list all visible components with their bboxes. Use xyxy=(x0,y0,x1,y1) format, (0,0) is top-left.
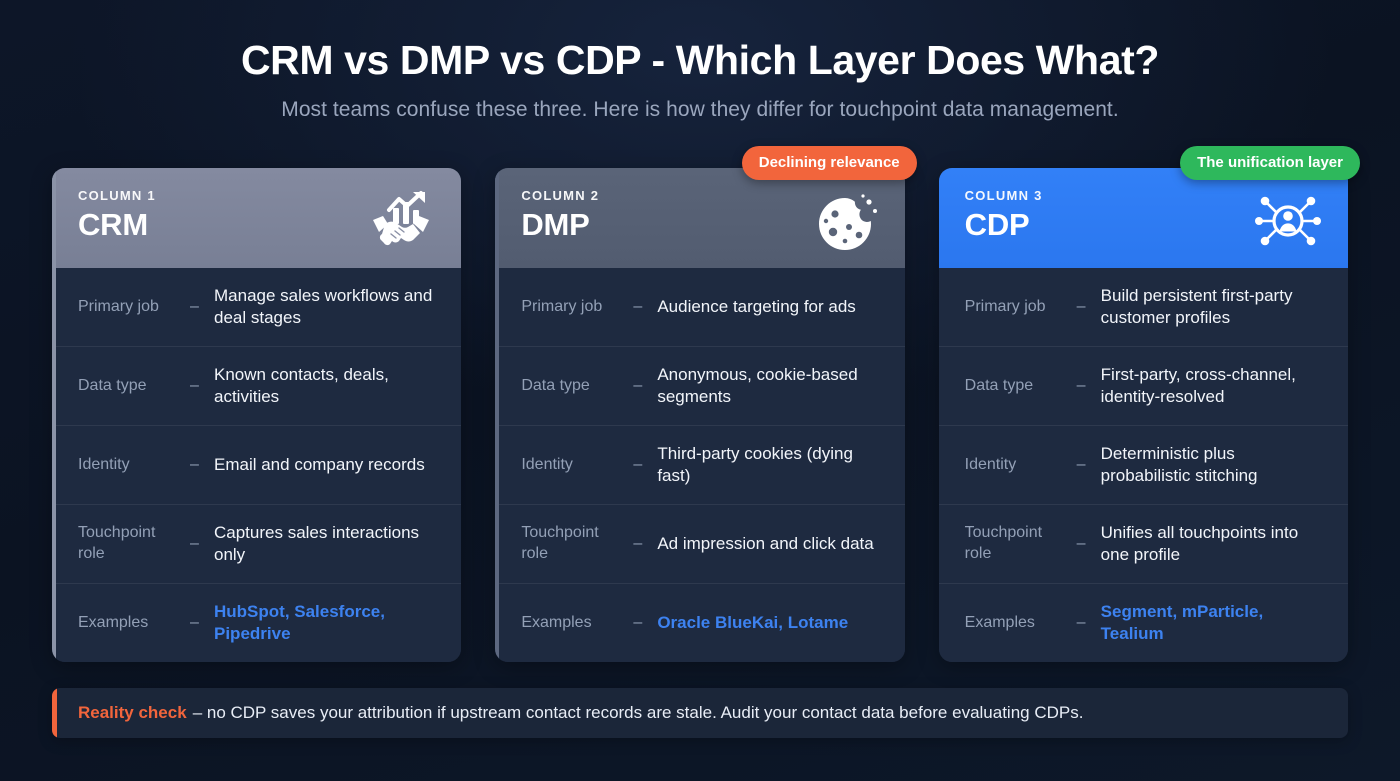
column-card-crm: COLUMN 1 CRM xyxy=(52,168,461,662)
row-label: Data type xyxy=(965,376,1077,397)
row-dash: – xyxy=(1077,614,1101,632)
row-label: Touchpoint role xyxy=(521,523,633,565)
status-badge-declining: Declining relevance xyxy=(742,146,917,180)
row-label: Data type xyxy=(78,376,190,397)
row-value: Deterministic plus probabilistic stitchi… xyxy=(1101,443,1326,488)
row-dash: – xyxy=(190,535,214,553)
row-label: Touchpoint role xyxy=(78,523,190,565)
user-network-icon xyxy=(1252,190,1324,252)
card-rows-crm: Primary job – Manage sales workflows and… xyxy=(52,268,461,662)
column-kicker: COLUMN 1 xyxy=(78,188,156,203)
column-card-cdp: The unification layer COLUMN 3 CDP xyxy=(939,168,1348,662)
column-kicker: COLUMN 2 xyxy=(521,188,599,203)
reality-check-banner: Reality check – no CDP saves your attrib… xyxy=(52,688,1348,738)
row-label: Examples xyxy=(521,613,633,634)
table-row: Touchpoint role – Unifies all touchpoint… xyxy=(939,504,1348,583)
row-label: Primary job xyxy=(965,297,1077,318)
row-value: Unifies all touchpoints into one profile xyxy=(1101,522,1326,567)
infographic-page: CRM vs DMP vs CDP - Which Layer Does Wha… xyxy=(0,0,1400,781)
handshake-growth-icon xyxy=(365,190,437,252)
row-dash: – xyxy=(633,535,657,553)
card-header-cdp: COLUMN 3 CDP xyxy=(939,168,1348,268)
row-value-examples: Oracle BlueKai, Lotame xyxy=(657,612,882,634)
row-dash: – xyxy=(633,298,657,316)
row-dash: – xyxy=(1077,535,1101,553)
column-name: CDP xyxy=(965,209,1043,242)
table-row: Examples – Segment, mParticle, Tealium xyxy=(939,583,1348,662)
row-dash: – xyxy=(633,614,657,632)
row-value: Ad impression and click data xyxy=(657,533,882,555)
row-value: Anonymous, cookie-based segments xyxy=(657,364,882,409)
row-value-examples: Segment, mParticle, Tealium xyxy=(1101,601,1326,646)
table-row: Data type – Anonymous, cookie-based segm… xyxy=(495,346,904,425)
table-row: Primary job – Manage sales workflows and… xyxy=(52,268,461,346)
column-card-dmp: Declining relevance COLUMN 2 DMP xyxy=(495,168,904,662)
row-dash: – xyxy=(190,456,214,474)
row-label: Touchpoint role xyxy=(965,523,1077,565)
table-row: Primary job – Build persistent first-par… xyxy=(939,268,1348,346)
row-label: Identity xyxy=(521,455,633,476)
reality-check-text: – no CDP saves your attribution if upstr… xyxy=(193,703,1084,723)
row-value: Captures sales interactions only xyxy=(214,522,439,567)
row-value-examples: HubSpot, Salesforce, Pipedrive xyxy=(214,601,439,646)
row-dash: – xyxy=(1077,456,1101,474)
column-kicker: COLUMN 3 xyxy=(965,188,1043,203)
reality-check-label: Reality check xyxy=(78,703,187,723)
row-label: Primary job xyxy=(521,297,633,318)
row-label: Data type xyxy=(521,376,633,397)
row-value: Third-party cookies (dying fast) xyxy=(657,443,882,488)
card-header-crm: COLUMN 1 CRM xyxy=(52,168,461,268)
table-row: Data type – First-party, cross-channel, … xyxy=(939,346,1348,425)
row-value: Audience targeting for ads xyxy=(657,296,882,318)
table-row: Touchpoint role – Ad impression and clic… xyxy=(495,504,904,583)
table-row: Examples – Oracle BlueKai, Lotame xyxy=(495,583,904,662)
card-rows-dmp: Primary job – Audience targeting for ads… xyxy=(495,268,904,662)
table-row: Examples – HubSpot, Salesforce, Pipedriv… xyxy=(52,583,461,662)
table-row: Identity – Email and company records xyxy=(52,425,461,504)
row-value: Manage sales workflows and deal stages xyxy=(214,285,439,330)
comparison-columns: COLUMN 1 CRM xyxy=(52,168,1348,662)
row-value: Known contacts, deals, activities xyxy=(214,364,439,409)
page-title: CRM vs DMP vs CDP - Which Layer Does Wha… xyxy=(0,38,1400,84)
page-subtitle: Most teams confuse these three. Here is … xyxy=(0,98,1400,122)
cookie-icon xyxy=(809,190,881,252)
row-value: First-party, cross-channel, identity-res… xyxy=(1101,364,1326,409)
row-dash: – xyxy=(190,298,214,316)
table-row: Data type – Known contacts, deals, activ… xyxy=(52,346,461,425)
row-dash: – xyxy=(190,377,214,395)
table-row: Identity – Deterministic plus probabilis… xyxy=(939,425,1348,504)
status-badge-unification: The unification layer xyxy=(1180,146,1360,180)
row-label: Identity xyxy=(965,455,1077,476)
column-name: DMP xyxy=(521,209,599,242)
card-rows-cdp: Primary job – Build persistent first-par… xyxy=(939,268,1348,662)
card-header-dmp: COLUMN 2 DMP xyxy=(495,168,904,268)
row-label: Examples xyxy=(78,613,190,634)
row-label: Primary job xyxy=(78,297,190,318)
row-value: Build persistent first-party customer pr… xyxy=(1101,285,1326,330)
row-label: Examples xyxy=(965,613,1077,634)
table-row: Primary job – Audience targeting for ads xyxy=(495,268,904,346)
page-header: CRM vs DMP vs CDP - Which Layer Does Wha… xyxy=(0,0,1400,122)
row-dash: – xyxy=(1077,377,1101,395)
row-dash: – xyxy=(633,456,657,474)
row-dash: – xyxy=(190,614,214,632)
row-value: Email and company records xyxy=(214,454,439,476)
table-row: Touchpoint role – Captures sales interac… xyxy=(52,504,461,583)
column-name: CRM xyxy=(78,209,156,242)
row-dash: – xyxy=(1077,298,1101,316)
table-row: Identity – Third-party cookies (dying fa… xyxy=(495,425,904,504)
row-dash: – xyxy=(633,377,657,395)
row-label: Identity xyxy=(78,455,190,476)
